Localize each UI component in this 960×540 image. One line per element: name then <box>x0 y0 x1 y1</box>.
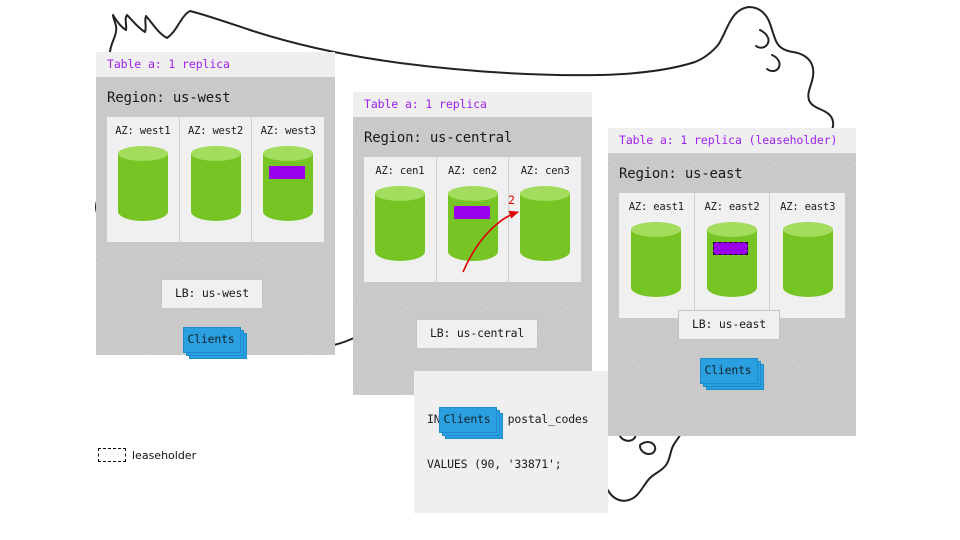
cylinder-body <box>263 153 313 221</box>
az-cell-east1[interactable]: AZ: east1 <box>619 193 695 318</box>
node-cylinder-cen3[interactable] <box>520 186 570 268</box>
sql-line-2: VALUES (90, '33871'; <box>427 457 595 472</box>
legend: leaseholder <box>98 448 196 462</box>
az-cell-west1[interactable]: AZ: west1 <box>107 117 180 242</box>
cylinder-top <box>631 222 681 237</box>
az-container-us-west: AZ: west1 AZ: west2 AZ: west3 <box>107 117 324 242</box>
region-title-us-central: Region: us-central <box>353 117 592 157</box>
clients-label-us-east: Clients <box>700 358 756 382</box>
cylinder-top <box>191 146 241 161</box>
az-cell-cen2[interactable]: AZ: cen2 <box>437 157 510 282</box>
clients-label-us-central: Clients <box>439 407 495 431</box>
region-title-us-west: Region: us-west <box>96 77 335 117</box>
az-cell-cen1[interactable]: AZ: cen1 <box>364 157 437 282</box>
cylinder-body <box>783 229 833 297</box>
az-label-cen2: AZ: cen2 <box>448 165 497 177</box>
cylinder-body <box>118 153 168 221</box>
cylinder-body <box>707 229 757 297</box>
panel-header-us-west: Table a: 1 replica <box>96 52 335 77</box>
az-label-west2: AZ: west2 <box>188 125 243 137</box>
az-cell-west2[interactable]: AZ: west2 <box>180 117 253 242</box>
region-panel-us-west: Table a: 1 replica Region: us-west AZ: w… <box>96 52 335 355</box>
az-label-cen1: AZ: cen1 <box>375 165 424 177</box>
az-label-east3: AZ: east3 <box>780 201 835 213</box>
az-label-west1: AZ: west1 <box>115 125 170 137</box>
clients-label-us-west: Clients <box>183 327 239 351</box>
cylinder-top <box>783 222 833 237</box>
replica-block-east2-leaseholder[interactable] <box>713 242 748 255</box>
load-balancer-us-east[interactable]: LB: us-east <box>678 310 780 340</box>
cylinder-top <box>263 146 313 161</box>
node-cylinder-east2[interactable] <box>707 222 757 304</box>
node-cylinder-west3[interactable] <box>263 146 313 228</box>
node-cylinder-west2[interactable] <box>191 146 241 228</box>
node-cylinder-cen2[interactable] <box>448 186 498 268</box>
az-cell-cen3[interactable]: AZ: cen3 <box>509 157 581 282</box>
node-cylinder-east3[interactable] <box>783 222 833 304</box>
region-panel-us-central: Table a: 1 replica Region: us-central AZ… <box>353 92 592 395</box>
node-cylinder-west1[interactable] <box>118 146 168 228</box>
cylinder-body <box>631 229 681 297</box>
clients-stack-us-west[interactable]: Clients <box>183 327 245 357</box>
cylinder-body <box>375 193 425 261</box>
az-label-west3: AZ: west3 <box>261 125 316 137</box>
cylinder-top <box>520 186 570 201</box>
load-balancer-us-central[interactable]: LB: us-central <box>416 319 538 349</box>
leaseholder-swatch-icon <box>98 448 126 462</box>
panel-header-us-east: Table a: 1 replica (leaseholder) <box>608 128 856 153</box>
cylinder-top <box>118 146 168 161</box>
replica-block-cen2[interactable] <box>454 206 490 219</box>
arrow-label-2: 2 <box>508 193 515 207</box>
cylinder-body <box>191 153 241 221</box>
clients-stack-us-east[interactable]: Clients <box>700 358 762 388</box>
region-title-us-east: Region: us-east <box>608 153 856 193</box>
region-panel-us-east: Table a: 1 replica (leaseholder) Region:… <box>608 128 856 436</box>
az-container-us-east: AZ: east1 AZ: east2 AZ: east3 <box>619 193 845 318</box>
node-cylinder-east1[interactable] <box>631 222 681 304</box>
panel-header-us-central: Table a: 1 replica <box>353 92 592 117</box>
cylinder-top <box>375 186 425 201</box>
diagram-canvas: Table a: 1 replica Region: us-west AZ: w… <box>0 0 960 540</box>
az-label-cen3: AZ: cen3 <box>521 165 570 177</box>
cylinder-body <box>448 193 498 261</box>
replica-block-west3[interactable] <box>269 166 305 179</box>
sql-statement-box: INSERT INTO postal_codes VALUES (90, '33… <box>414 371 608 513</box>
az-cell-east2[interactable]: AZ: east2 <box>695 193 771 318</box>
cylinder-top <box>448 186 498 201</box>
az-container-us-central: AZ: cen1 AZ: cen2 AZ: cen3 <box>364 157 581 282</box>
az-label-east1: AZ: east1 <box>629 201 684 213</box>
az-label-east2: AZ: east2 <box>704 201 759 213</box>
node-cylinder-cen1[interactable] <box>375 186 425 268</box>
clients-stack-us-central[interactable]: Clients <box>439 407 501 437</box>
az-cell-west3[interactable]: AZ: west3 <box>252 117 324 242</box>
az-cell-east3[interactable]: AZ: east3 <box>770 193 845 318</box>
load-balancer-us-west[interactable]: LB: us-west <box>161 279 263 309</box>
cylinder-top <box>707 222 757 237</box>
legend-label-leaseholder: leaseholder <box>132 449 196 462</box>
cylinder-body <box>520 193 570 261</box>
